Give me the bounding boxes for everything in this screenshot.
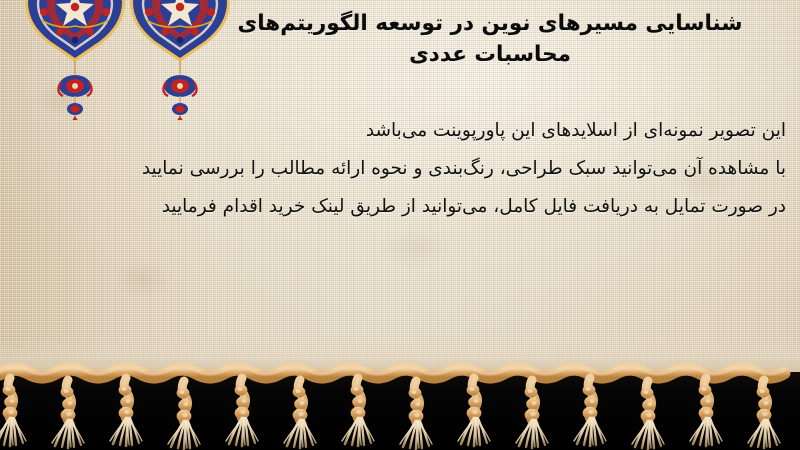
carpet-fringe <box>0 338 800 450</box>
body-line-3: در صورت تمایل به دریافت فایل کامل، می‌تو… <box>10 188 786 226</box>
slide-body: این تصویر نمونه‌ای از اسلایدهای این پاور… <box>10 112 786 226</box>
fringe-tassels <box>0 338 800 450</box>
body-line-1: این تصویر نمونه‌ای از اسلایدهای این پاور… <box>10 112 786 150</box>
presentation-slide: شناسایی مسیرهای نوین در توسعه الگوریتم‌ه… <box>0 0 800 450</box>
body-line-2: با مشاهده آن می‌توانید سبک طراحی، رنگ‌بن… <box>10 150 786 188</box>
slide-title: شناسایی مسیرهای نوین در توسعه الگوریتم‌ه… <box>194 8 786 71</box>
tassel-row <box>0 378 780 449</box>
